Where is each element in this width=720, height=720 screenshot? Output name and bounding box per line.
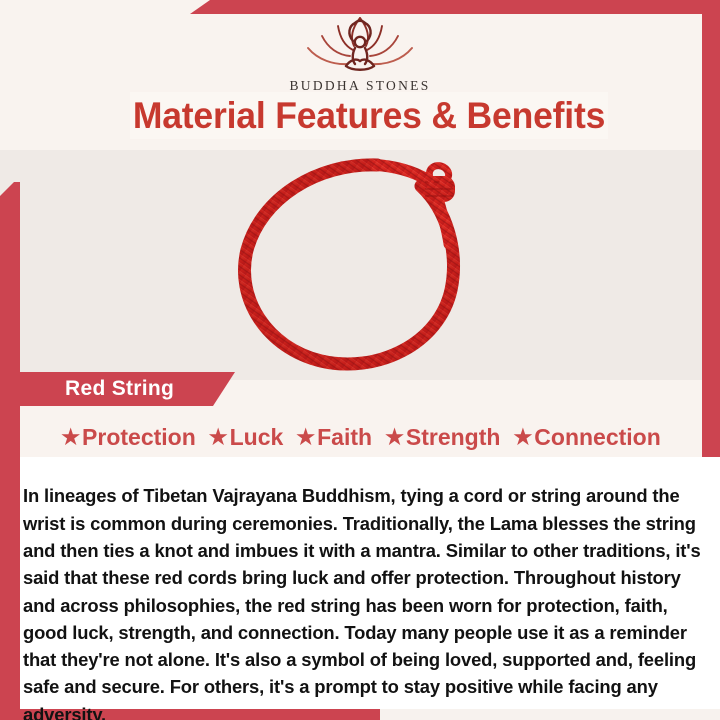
red-braided-string-bracelet-photo [225,158,497,373]
section-ribbon-label: Red String [65,377,174,401]
product-photo [20,150,702,380]
star-icon: ★ [513,427,532,448]
keyword-faith: ★ Faith [296,424,372,451]
star-icon: ★ [296,427,315,448]
page-title-plate: Material Features & Benefits [130,92,608,139]
keyword-luck: ★ Luck [209,424,284,451]
keyword-label: Luck [230,424,284,451]
lotus-meditating-figure-icon [300,14,420,76]
star-icon: ★ [209,427,228,448]
top-red-accent-bar [190,0,720,14]
keyword-protection: ★ Protection [61,424,196,451]
star-icon: ★ [385,427,404,448]
page-title: Material Features & Benefits [133,95,605,137]
star-icon: ★ [61,427,80,448]
keyword-label: Connection [534,424,661,451]
description-paragraph: In lineages of Tibetan Vajrayana Buddhis… [23,482,706,720]
left-red-accent-bar [0,182,20,720]
infographic-page: BUDDHA STONES Material Features & Benefi… [0,0,720,720]
keyword-strength: ★ Strength [385,424,500,451]
keyword-label: Faith [317,424,372,451]
keyword-connection: ★ Connection [513,424,660,451]
keyword-label: Protection [82,424,196,451]
brand-logo: BUDDHA STONES [0,14,720,94]
description-panel: In lineages of Tibetan Vajrayana Buddhis… [20,457,720,709]
benefit-keyword-row: ★ Protection ★ Luck ★ Faith ★ Strength ★… [20,418,702,456]
section-ribbon: Red String [20,372,235,406]
keyword-label: Strength [406,424,501,451]
